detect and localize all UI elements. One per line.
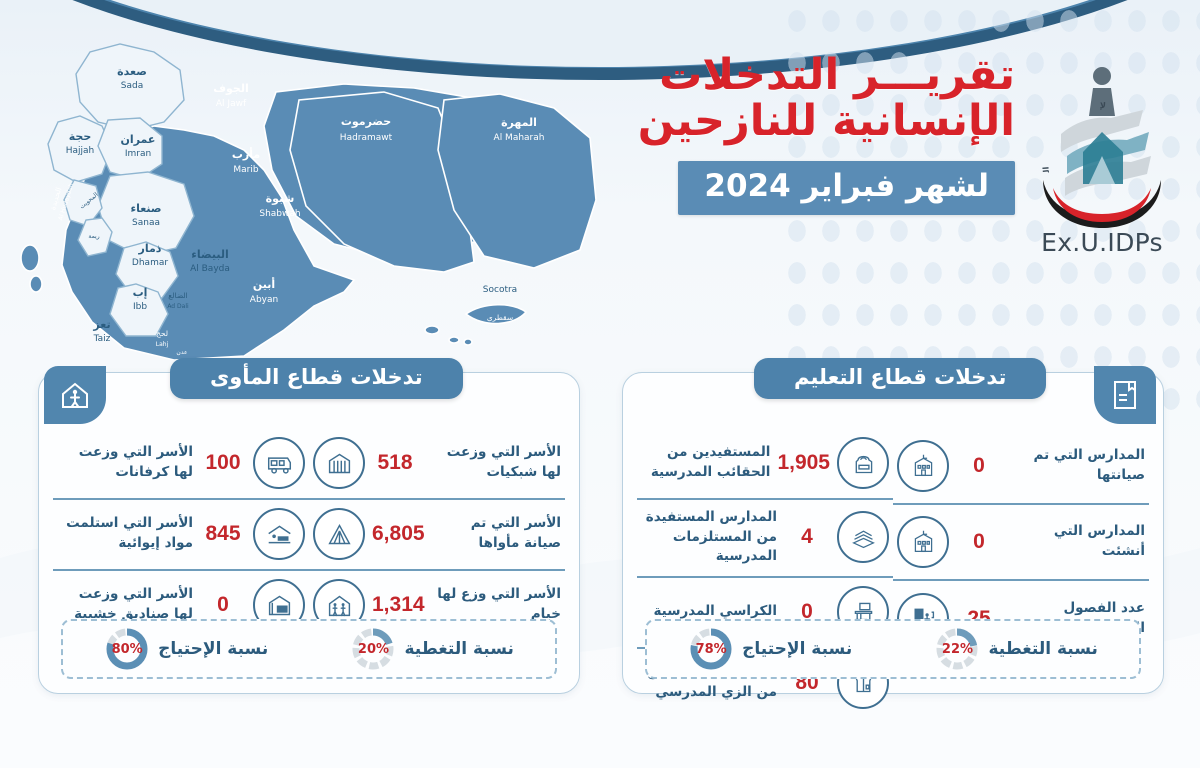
svg-text:ريمة: ريمة [88, 233, 99, 240]
ratio-value: 20% [350, 626, 396, 672]
stat-value: 1,314 [372, 593, 425, 617]
ratio-label: نسبة الإحتياج [742, 639, 852, 659]
svg-text:تعز: تعز [92, 318, 110, 331]
svg-text:Hajjah: Hajjah [66, 146, 95, 156]
book-icon [1094, 366, 1156, 424]
organization-logo: الوحدة التنفيذية لإدارة مخيمات النازحين … [1022, 60, 1182, 275]
svg-text:Ibb: Ibb [133, 302, 147, 312]
books-icon [837, 511, 889, 563]
logo-acronym-text: Ex.U.IDPs [1022, 228, 1182, 257]
svg-text:سقطرى: سقطرى [487, 313, 513, 322]
ratio-label: نسبة التغطية [404, 639, 513, 659]
svg-text:Al Jawf: Al Jawf [216, 99, 247, 109]
logo-mark-icon: الوحدة التنفيذية لإدارة مخيمات النازحين [1027, 60, 1177, 232]
ratio-label: نسبة التغطية [988, 639, 1097, 659]
education-need-ratio: نسبة الإحتياج 78% [688, 626, 852, 672]
stat-item: 4 المدارس المستفيدة من المستلزمات المدرس… [637, 500, 893, 578]
stat-item: 845 الأسر التي استلمت مواد إيوائية [53, 500, 309, 571]
map-label-aden: عدن [176, 349, 187, 356]
svg-text:Al Maharah: Al Maharah [494, 133, 545, 143]
report-title-line-1: تقريـــر التدخلات [615, 52, 1015, 98]
svg-text:Sada: Sada [121, 81, 143, 91]
svg-text:صعدة: صعدة [117, 65, 147, 78]
stat-item: المدارس التي أنشئت 0 [893, 505, 1149, 581]
stat-item: الأسر التي وزعت لها شبكيات 518 [309, 429, 565, 500]
svg-text:ذمار: ذمار [138, 242, 162, 255]
school-building-icon [897, 516, 949, 568]
svg-text:لحج: لحج [156, 329, 168, 338]
ratio-value: 80% [104, 626, 150, 672]
svg-text:Dhamar: Dhamar [132, 258, 168, 268]
caravan-icon [253, 437, 305, 489]
map-label-socotra: Socotra سقطرى [483, 285, 517, 322]
stat-value: 100 [200, 451, 246, 475]
svg-text:شبوة: شبوة [266, 192, 295, 205]
svg-text:مأرب: مأرب [232, 147, 260, 161]
stat-label: الأسر التي استلمت مواد إيوائية [57, 514, 193, 553]
ratio-label: نسبة الإحتياج [158, 639, 268, 659]
svg-text:عدن: عدن [176, 349, 187, 356]
svg-text:الجوف: الجوف [213, 82, 249, 95]
svg-text:Marib: Marib [233, 165, 258, 175]
stat-value: 518 [372, 451, 418, 475]
svg-text:عمران: عمران [121, 133, 156, 146]
stat-item: المدارس التي تم صيانتها 0 [893, 429, 1149, 505]
school-building-icon [897, 440, 949, 492]
report-period-badge: لشهر فبراير 2024 [678, 161, 1015, 215]
stat-value: 0 [956, 530, 1002, 554]
shelter-kit-icon [253, 508, 305, 560]
stat-label: المدارس المستفيدة من المستلزمات المدرسية [641, 508, 777, 567]
svg-text:الوحدة التنفيذية: الوحدة التنفيذية [1027, 60, 1051, 174]
backpack-icon [837, 437, 889, 489]
ratio-value: 78% [688, 626, 734, 672]
stat-value: 845 [200, 522, 246, 546]
shelter-right-column: 100 الأسر التي وزعت لها كرفانات [53, 429, 309, 640]
stat-label: المدارس التي تم صيانتها [1009, 446, 1145, 485]
stat-item: الأسر التي تم صيانة مأواها 6,805 [309, 500, 565, 571]
svg-text:Imran: Imran [125, 149, 151, 159]
tent-maintenance-icon [313, 508, 365, 560]
shelter-stats-rows: الأسر التي وزعت لها شبكيات 518 الأسر الت… [39, 429, 579, 640]
report-title-line-2: الإنسانية للنازحين [615, 98, 1015, 144]
stat-label: المدارس التي أنشئت [1009, 522, 1145, 561]
shelter-sector-card: الأسر التي وزعت لها شبكيات 518 الأسر الت… [38, 372, 580, 694]
education-sector-badge: تدخلات قطاع التعليم [754, 358, 1046, 399]
svg-text:البيضاء: البيضاء [191, 248, 228, 261]
shelter-coverage-ratio: نسبة التغطية 20% [350, 626, 513, 672]
svg-text:Ad Dali: Ad Dali [167, 303, 189, 310]
svg-text:الضالع: الضالع [168, 291, 187, 300]
svg-text:Hadramawt: Hadramawt [340, 133, 393, 143]
coverage-donut-chart: 22% [934, 626, 980, 672]
education-sector-card: المدارس التي تم صيانتها 0 المد [622, 372, 1164, 694]
stat-label: الأسر التي وزعت لها شبكيات [425, 443, 561, 482]
stat-value: 0 [956, 454, 1002, 478]
coverage-donut-chart: 20% [350, 626, 396, 672]
stat-value: 6,805 [372, 522, 425, 546]
education-ratio-strip: نسبة التغطية 22% نسبة الإحتياج 78% [645, 619, 1141, 679]
svg-text:Shabwah: Shabwah [259, 209, 300, 219]
svg-text:Taiz: Taiz [93, 334, 111, 344]
svg-text:صنعاء: صنعاء [130, 202, 161, 215]
svg-text:Al Bayda: Al Bayda [190, 264, 230, 274]
logo-arc-text-right: الوحدة التنفيذية [1027, 60, 1051, 174]
stat-value: 4 [784, 525, 830, 549]
svg-text:Socotra: Socotra [483, 285, 517, 295]
shelter-left-column: الأسر التي وزعت لها شبكيات 518 الأسر الت… [309, 429, 565, 640]
yemen-map-svg: .gov{fill:#5a8cb5;stroke:#ffffff;stroke-… [14, 30, 634, 360]
shelter-sector-badge: تدخلات قطاع المأوى [170, 358, 463, 399]
svg-text:Abyan: Abyan [250, 295, 278, 305]
svg-text:Lahj: Lahj [156, 341, 169, 348]
stat-label: الأسر التي وزعت لها كرفانات [57, 443, 193, 482]
stat-item: 1,905 المستفيدين من الحقائب المدرسية [637, 429, 893, 500]
svg-text:إب: إب [133, 286, 148, 299]
stat-value: 0 [200, 593, 246, 617]
stat-value: 1,905 [777, 451, 830, 475]
shelter-person-icon [44, 366, 106, 424]
stat-item: 100 الأسر التي وزعت لها كرفانات [53, 429, 309, 500]
svg-text:حجة: حجة [69, 130, 92, 143]
mesh-icon [313, 437, 365, 489]
shelter-row-1: الأسر التي وزعت لها شبكيات 518 الأسر الت… [53, 429, 565, 640]
infographic-page: .gov{fill:#5a8cb5;stroke:#ffffff;stroke-… [0, 0, 1200, 768]
yemen-map: .gov{fill:#5a8cb5;stroke:#ffffff;stroke-… [14, 30, 634, 360]
svg-text:حضرموت: حضرموت [341, 115, 391, 128]
svg-text:أبين: أبين [253, 277, 275, 291]
stat-label: المستفيدين من الحقائب المدرسية [641, 443, 770, 482]
stat-label: الأسر التي تم صيانة مأواها [432, 514, 561, 553]
map-label-raymah: ريمة [88, 233, 99, 240]
ratio-value: 22% [934, 626, 980, 672]
report-title-block: تقريـــر التدخلات الإنسانية للنازحين لشه… [615, 52, 1015, 215]
svg-text:المهرة: المهرة [501, 116, 537, 129]
map-label-al-jawf: الجوف Al Jawf [213, 82, 249, 109]
education-coverage-ratio: نسبة التغطية 22% [934, 626, 1097, 672]
shelter-need-ratio: نسبة الإحتياج 80% [104, 626, 268, 672]
shelter-ratio-strip: نسبة التغطية 20% نسبة الإحتياج 80% [61, 619, 557, 679]
need-donut-chart: 78% [688, 626, 734, 672]
need-donut-chart: 80% [104, 626, 150, 672]
svg-text:Sanaa: Sanaa [132, 218, 160, 228]
